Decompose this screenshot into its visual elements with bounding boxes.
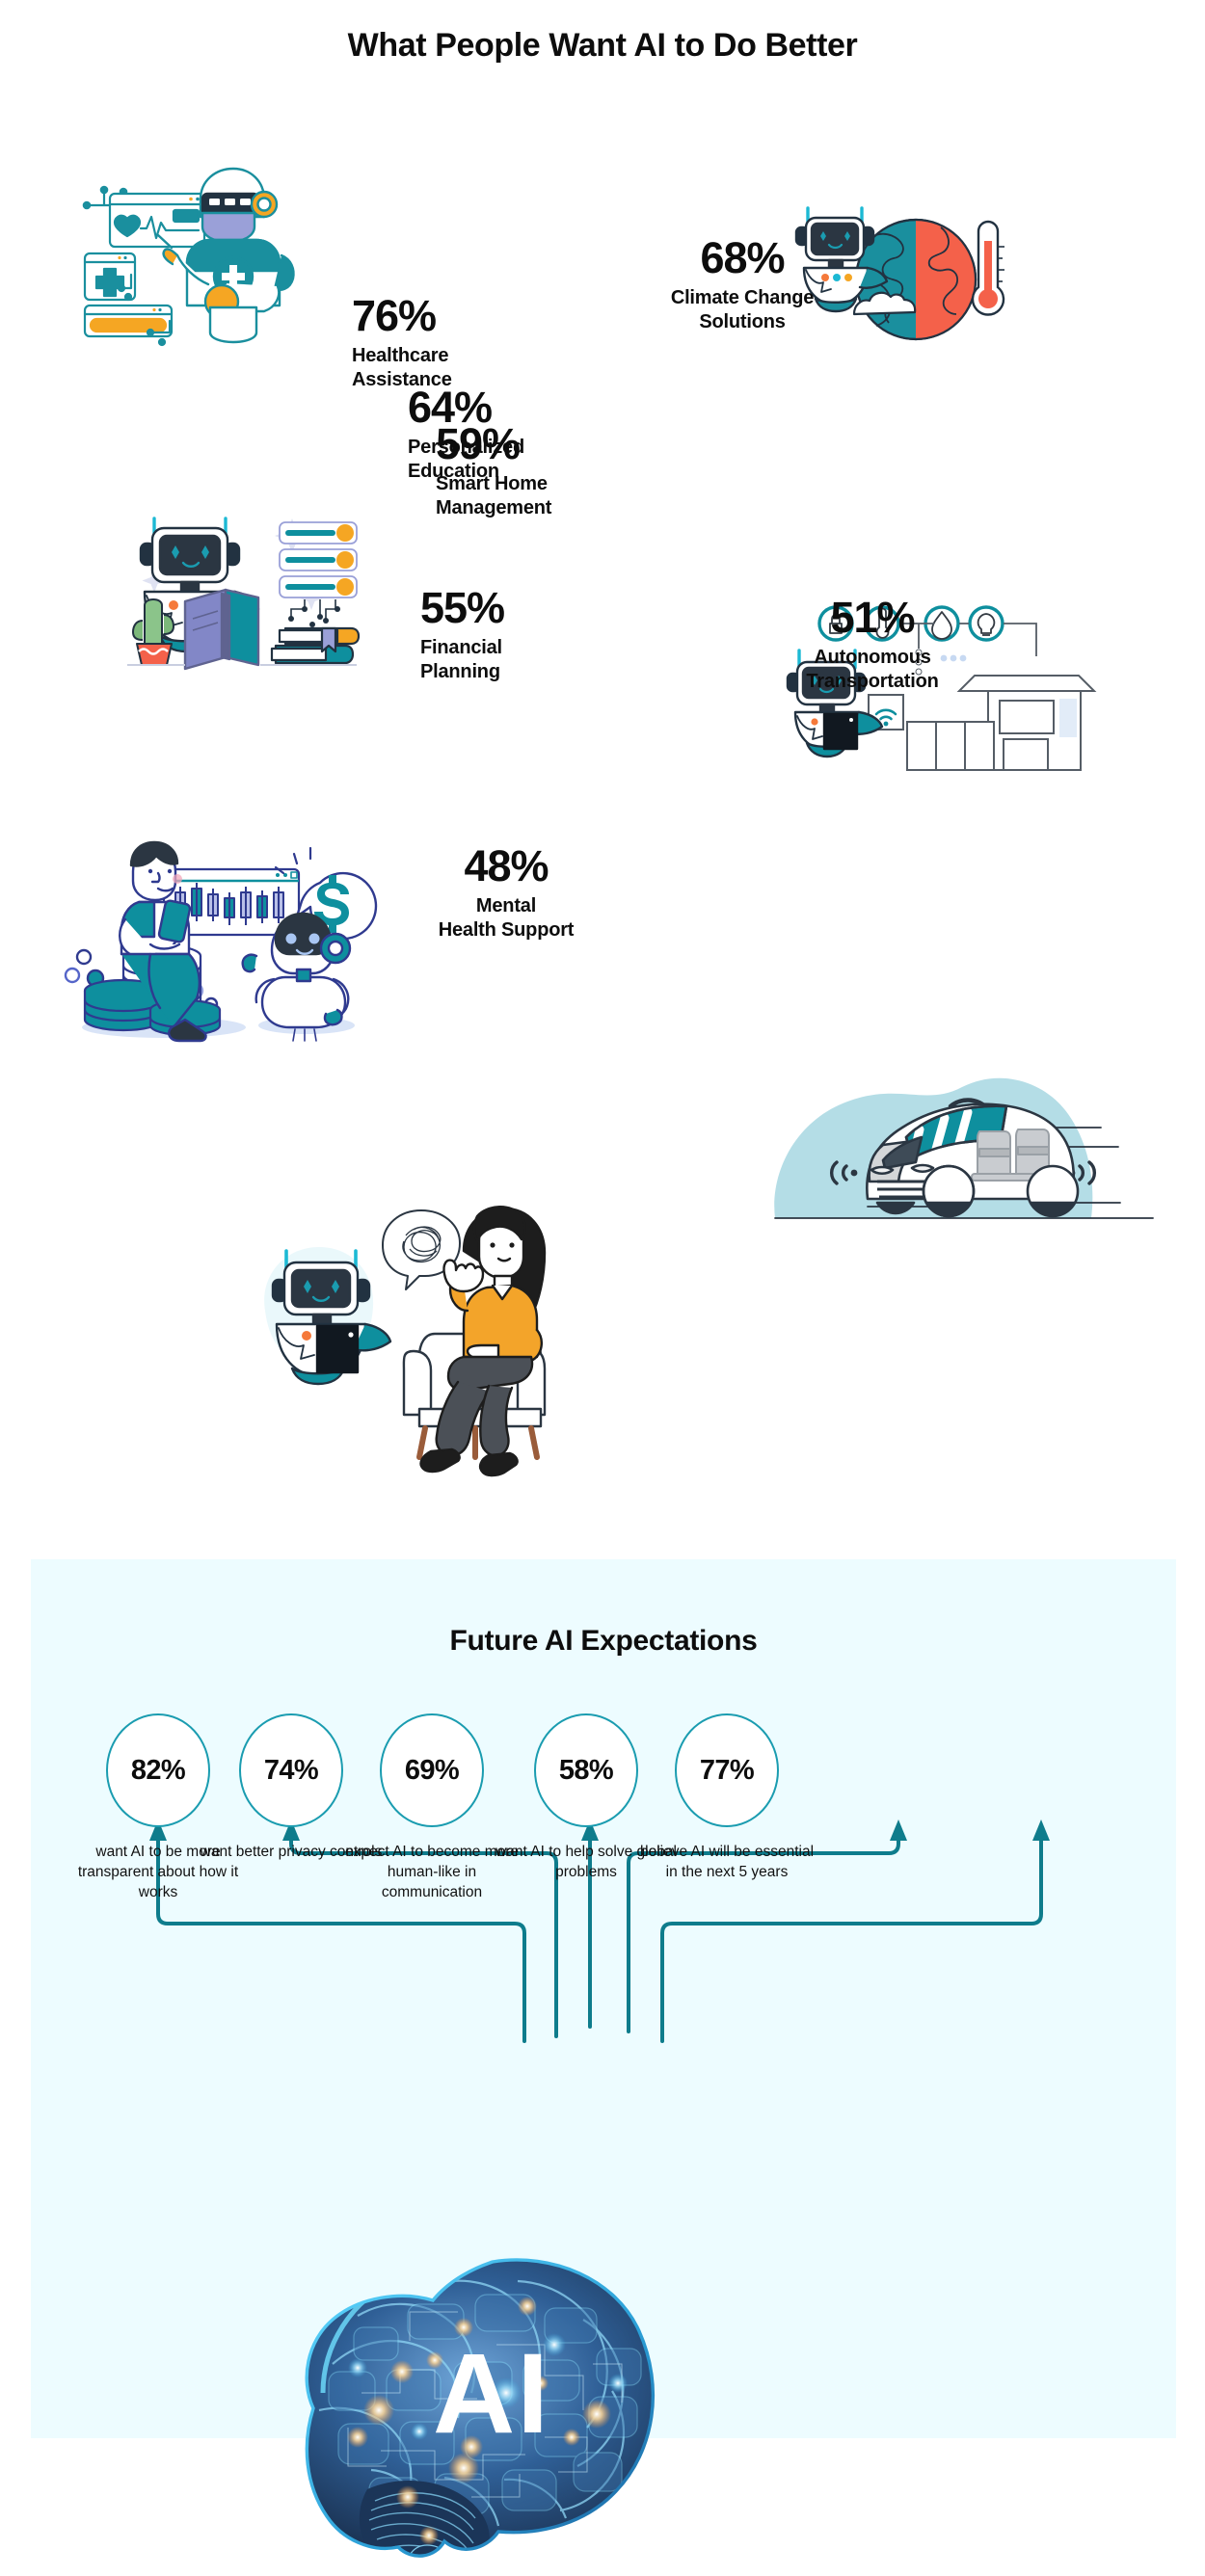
- infographic-page: What People Want AI to Do Better: [0, 0, 1205, 2472]
- stat-percent: 48%: [280, 844, 733, 888]
- circle-percent: 69%: [405, 1755, 459, 1787]
- percent-circle: 58%: [534, 1713, 638, 1827]
- circle-percent: 74%: [264, 1755, 318, 1787]
- stat-label: Smart Home Management: [436, 472, 657, 520]
- future-expectations-panel: Future AI Expectations 82%: [31, 1559, 1176, 2438]
- percent-circle: 69%: [380, 1713, 484, 1827]
- circle-percent: 82%: [131, 1755, 185, 1787]
- percent-circle: 77%: [675, 1713, 779, 1827]
- mental-health-robot-illustration: [236, 1195, 641, 1484]
- brain-ai-label: AI: [265, 2337, 718, 2451]
- panel-title: Future AI Expectations: [31, 1625, 1176, 1658]
- circle-percent: 58%: [559, 1755, 613, 1787]
- stat-percent: 55%: [420, 586, 642, 629]
- stat-financial: 55% Financial Planning: [420, 586, 642, 684]
- stat-percent: 59%: [436, 422, 657, 465]
- stat-label: Financial Planning: [420, 636, 642, 684]
- expectation-item-4[interactable]: 77% believe AI will be essential in the …: [632, 1713, 821, 1883]
- stat-smart-home: 59% Smart Home Management: [436, 422, 657, 520]
- stat-percent: 51%: [665, 596, 1080, 639]
- stat-autonomous: 51% Autonomous Transportation: [665, 596, 1080, 694]
- stat-label: Mental Health Support: [280, 894, 733, 943]
- ai-brain-image: AI: [265, 2248, 718, 2576]
- circle-label: believe AI will be essential in the next…: [632, 1843, 821, 1883]
- stat-percent: 68%: [415, 236, 1070, 279]
- percent-circle: 74%: [239, 1713, 343, 1827]
- expectation-circles-row: 82% want AI to be more transparent about…: [31, 1713, 1176, 2003]
- circle-percent: 77%: [700, 1755, 754, 1787]
- healthcare-robot-illustration: [56, 159, 345, 352]
- autonomous-car-illustration: [762, 993, 1166, 1224]
- stat-label: Climate Change Solutions: [415, 286, 1070, 334]
- education-robot-reading-illustration: [114, 501, 403, 675]
- stat-climate: 68% Climate Change Solutions: [415, 236, 1070, 334]
- percent-circle: 82%: [106, 1713, 210, 1827]
- stat-label: Autonomous Transportation: [665, 646, 1080, 694]
- stat-mental-health: 48% Mental Health Support: [280, 844, 733, 943]
- page-title: What People Want AI to Do Better: [0, 27, 1205, 65]
